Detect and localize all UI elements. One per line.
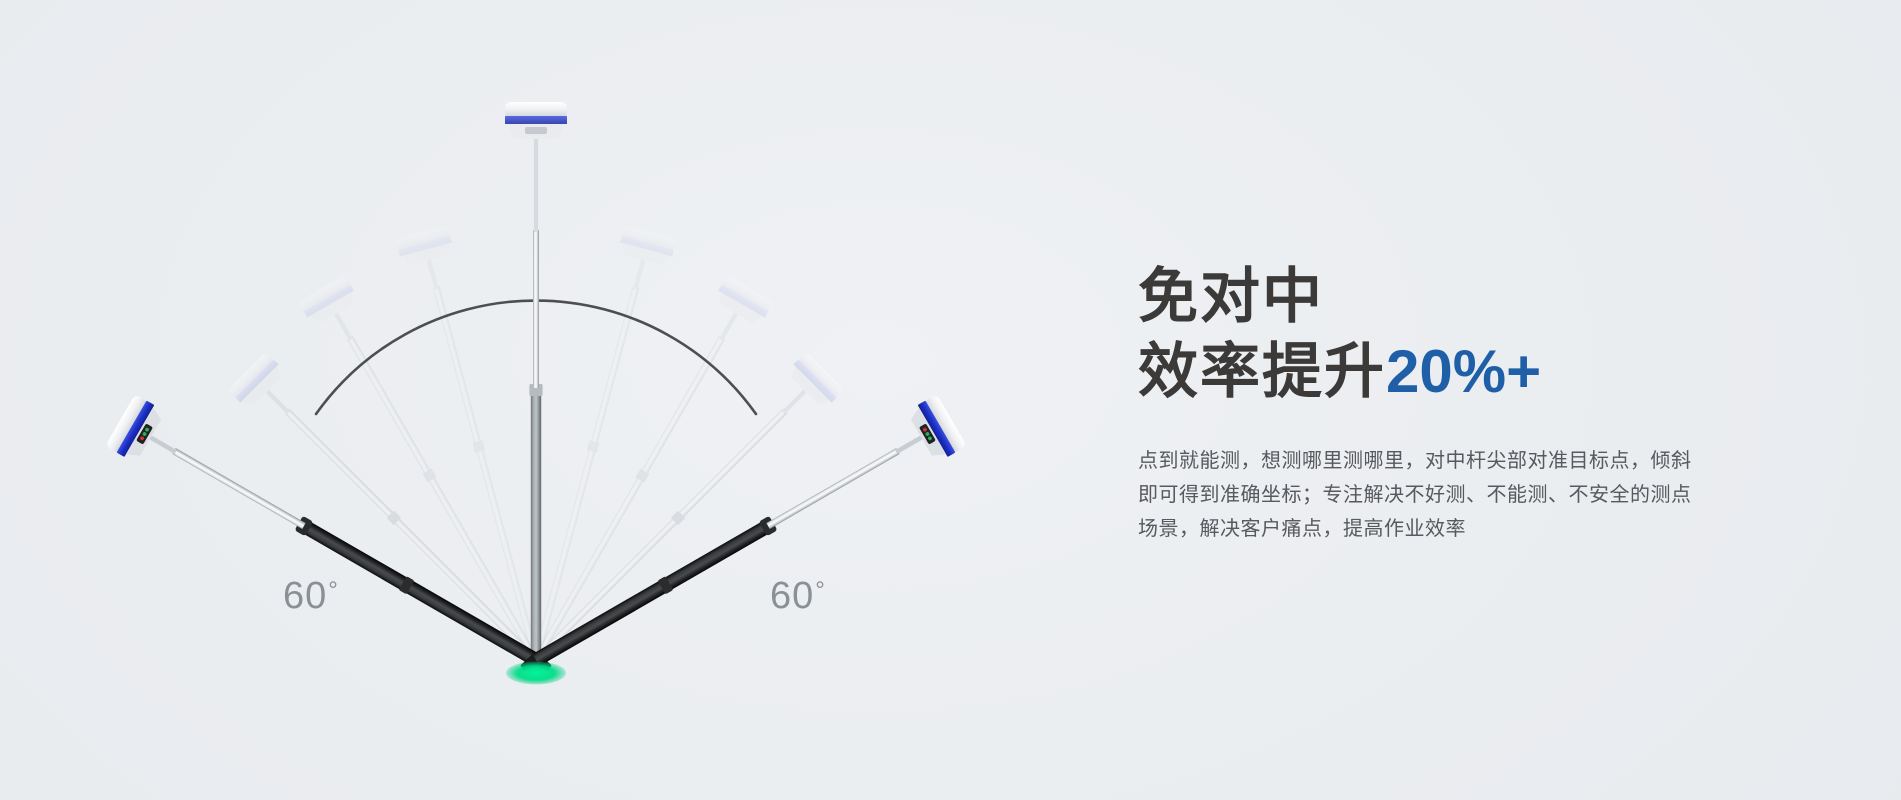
body-line-2: 即可得到准确坐标；专注解决不好测、不能测、不安全的测点 (1138, 478, 1798, 512)
angle-label-right: 60° (770, 575, 825, 618)
body-line-1: 点到就能测，想测哪里测哪里，对中杆尖部对准目标点，倾斜 (1138, 444, 1798, 478)
pole-plus45 (517, 352, 844, 679)
angle-label-right-value: 60 (770, 575, 814, 617)
headline-line-2: 效率提升20%+ (1138, 337, 1838, 408)
gnss-receiver-head (906, 394, 966, 463)
marketing-copy-column: 免对中 效率提升20%+ 点到就能测，想测哪里测哪里，对中杆尖部对准目标点，倾斜… (1138, 262, 1838, 546)
body-line-3: 场景，解决客户痛点，提高作业效率 (1138, 512, 1798, 546)
angle-label-left: 60° (283, 575, 338, 618)
body-paragraph: 点到就能测，想测哪里测哪里，对中杆尖部对准目标点，倾斜 即可得到准确坐标；专注解… (1138, 444, 1798, 546)
green-ground-point (506, 662, 566, 685)
headline-line-1: 免对中 (1138, 262, 1838, 333)
angle-label-left-value: 60 (283, 575, 327, 617)
headline-accent-metric: 20%+ (1386, 338, 1541, 405)
tilt-compensation-illustration: 60° 60° (0, 0, 1060, 800)
pole-minus45 (228, 352, 555, 679)
survey-pole-fan-svg (0, 0, 1060, 800)
gnss-receiver-head (105, 394, 165, 463)
gnss-receiver-head (505, 102, 567, 139)
pole-minus60 (105, 394, 565, 694)
degree-symbol-icon: ° (328, 577, 339, 604)
degree-symbol-icon: ° (815, 577, 826, 604)
pole-plus60 (507, 394, 967, 694)
promo-banner: 60° 60° 免对中 效率提升20%+ 点到就能测，想测哪里测哪里，对中杆尖部… (0, 0, 1901, 800)
headline-line-2-main: 效率提升 (1138, 338, 1386, 405)
